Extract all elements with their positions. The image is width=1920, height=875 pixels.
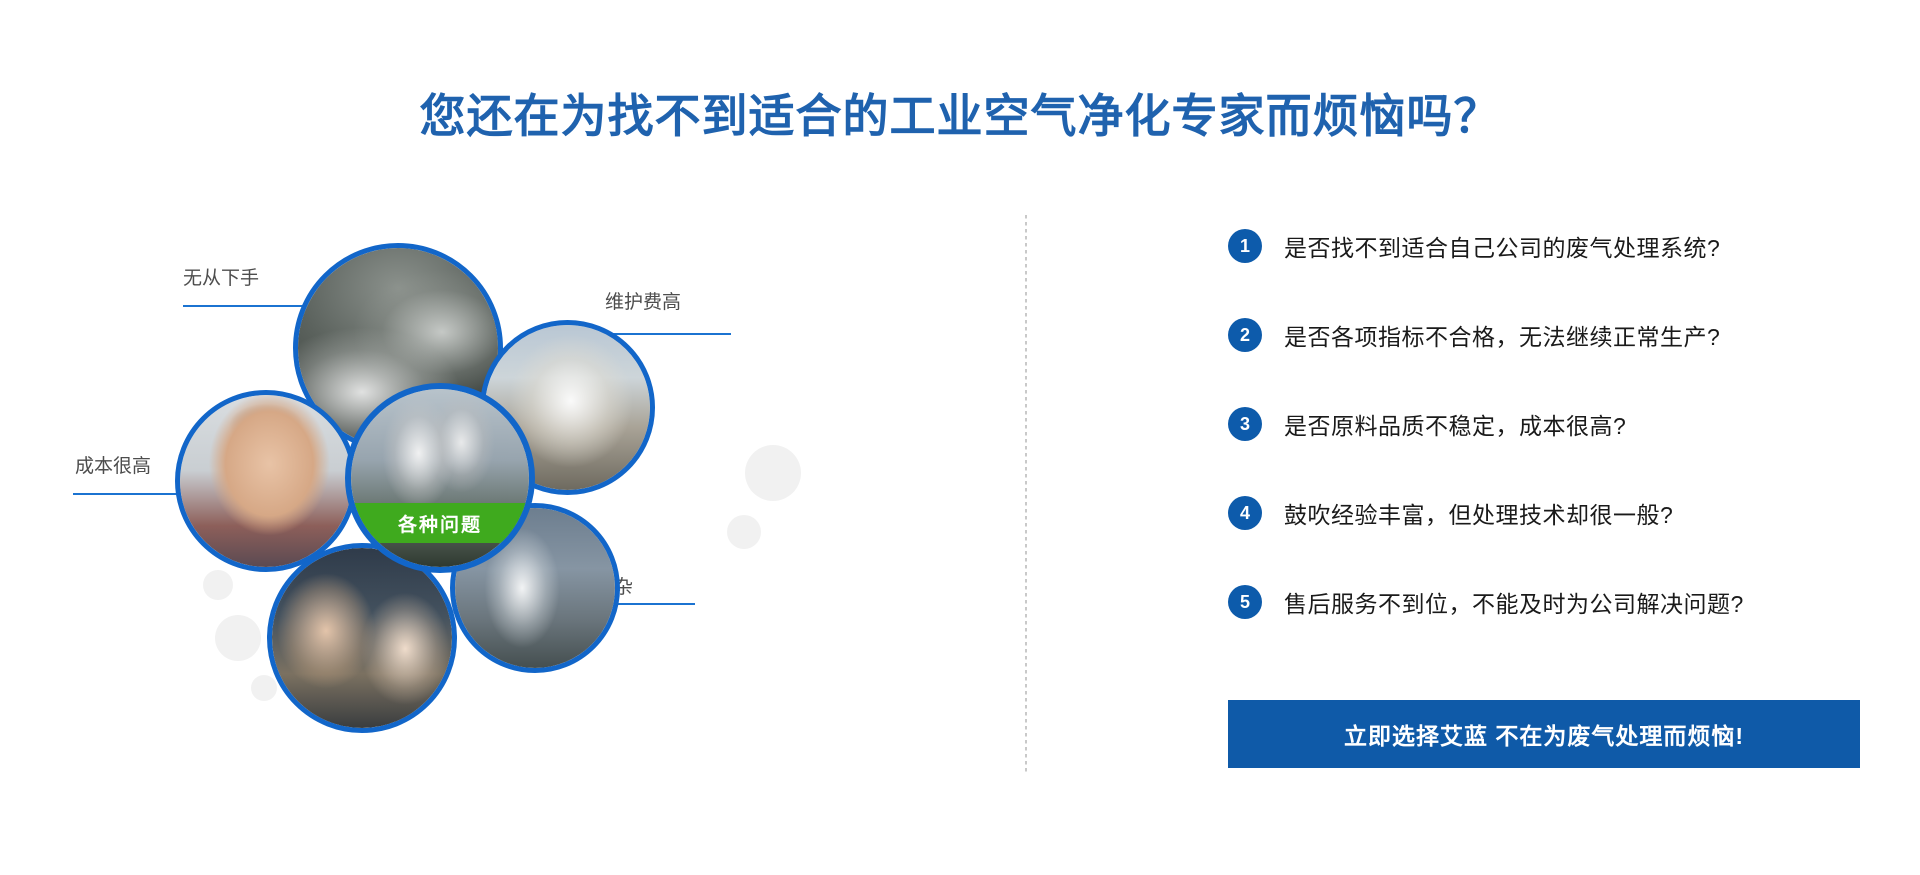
bubble-center-chimneys: 各种问题 [345,383,535,573]
diagram-label-chengbenhengao: 成本很高 [75,451,151,478]
decorative-circle [251,675,277,701]
number-badge-3: 3 [1228,407,1262,441]
photo-complaint-meeting [272,548,452,728]
list-item: 1 是否找不到适合自己公司的废气处理系统? [1228,215,1868,276]
number-badge-1: 1 [1228,229,1262,263]
decorative-circle [745,445,801,501]
promo-page: 您还在为找不到适合的工业空气净化专家而烦恼吗？ 无从下手 维护费高 [0,0,1920,875]
diagram-label-wucongxiashou: 无从下手 [183,263,259,290]
vertical-dotted-divider [1025,215,1027,775]
photo-stressed-man [180,395,352,567]
number-badge-2: 2 [1228,318,1262,352]
number-badge-5: 5 [1228,585,1262,619]
center-badge-label: 各种问题 [351,503,529,543]
content-body: 无从下手 维护费高 成本很高 太复杂 [0,215,1920,835]
decorative-circle [215,615,261,661]
bubble-stressed-man [175,390,357,572]
question-text-1: 是否找不到适合自己公司的废气处理系统? [1284,229,1720,263]
cta-button[interactable]: 立即选择艾蓝 不在为废气处理而烦恼! [1228,700,1860,768]
page-title: 您还在为找不到适合的工业空气净化专家而烦恼吗？ [0,86,1920,146]
question-text-4: 鼓吹经验丰富，但处理技术却很一般? [1284,496,1673,530]
diagram-label-weihufeigao: 维护费高 [605,287,681,314]
list-item: 4 鼓吹经验丰富，但处理技术却很一般? [1228,482,1868,543]
list-item: 3 是否原料品质不稳定，成本很高? [1228,393,1868,454]
decorative-circle [727,515,761,549]
question-text-5: 售后服务不到位，不能及时为公司解决问题? [1284,585,1744,619]
list-item: 2 是否各项指标不合格，无法继续正常生产? [1228,304,1868,365]
problem-cluster-diagram: 无从下手 维护费高 成本很高 太复杂 [55,215,955,835]
number-badge-4: 4 [1228,496,1262,530]
question-text-2: 是否各项指标不合格，无法继续正常生产? [1284,318,1720,352]
question-text-3: 是否原料品质不稳定，成本很高? [1284,407,1626,441]
decorative-circle [203,570,233,600]
question-list: 1 是否找不到适合自己公司的废气处理系统? 2 是否各项指标不合格，无法继续正常… [1228,215,1868,660]
list-item: 5 售后服务不到位，不能及时为公司解决问题? [1228,571,1868,632]
